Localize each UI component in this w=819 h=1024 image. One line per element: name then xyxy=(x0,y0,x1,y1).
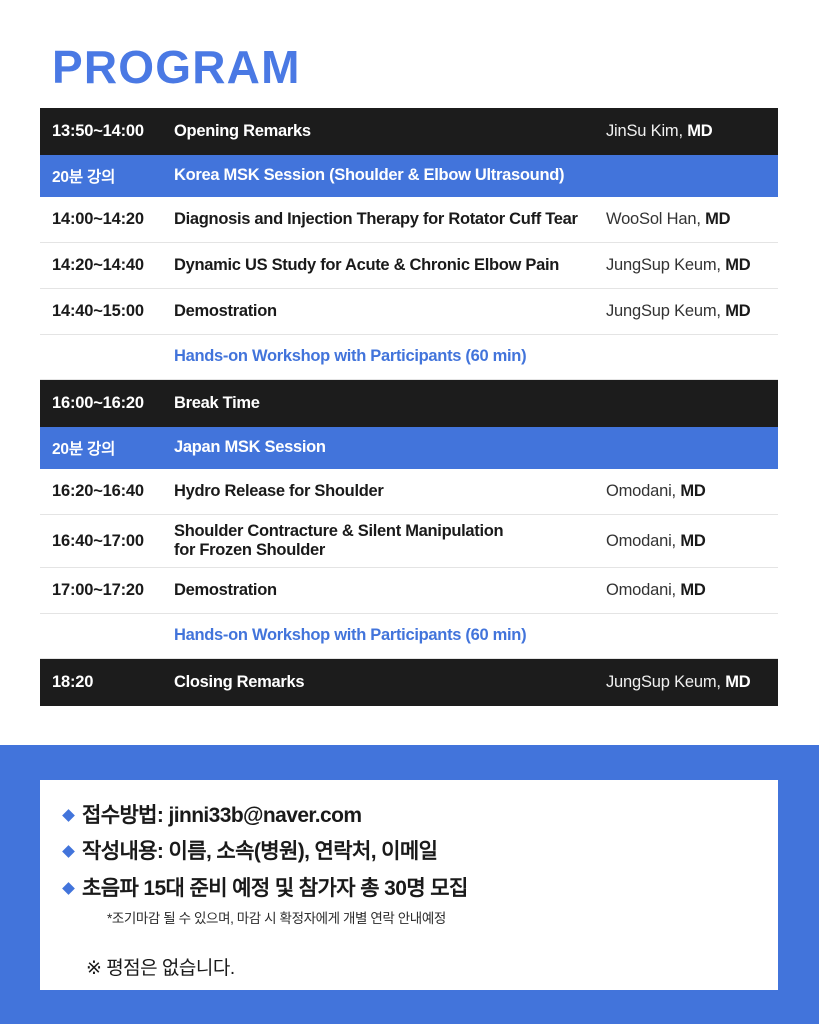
program-row: 14:00~14:20Diagnosis and Injection Thera… xyxy=(40,197,778,243)
program-row-time: 13:50~14:00 xyxy=(40,122,174,141)
program-row-time: 17:00~17:20 xyxy=(40,581,174,600)
speaker-degree: MD xyxy=(680,581,705,599)
program-row: 13:50~14:00Opening RemarksJinSu Kim, MD xyxy=(40,108,778,155)
program-row-speaker: JungSup Keum, MD xyxy=(606,256,778,275)
program-row-time: 18:20 xyxy=(40,673,174,692)
registration-bullet-text: 접수방법: jinni33b@naver.com xyxy=(82,802,361,829)
program-row-speaker: Omodani, MD xyxy=(606,581,778,600)
speaker-degree: MD xyxy=(705,210,730,228)
program-row: 20분 강의Japan MSK Session xyxy=(40,427,778,469)
speaker-degree: MD xyxy=(725,302,750,320)
program-row-topic: Hands-on Workshop with Participants (60 … xyxy=(174,626,606,645)
program-row-topic: Break Time xyxy=(174,394,606,413)
speaker-degree: MD xyxy=(725,673,750,691)
program-row-speaker: WooSol Han, MD xyxy=(606,210,778,229)
program-row-speaker: JinSu Kim, MD xyxy=(606,122,778,141)
program-row-time: 16:20~16:40 xyxy=(40,482,174,501)
program-row: 14:20~14:40Dynamic US Study for Acute & … xyxy=(40,243,778,289)
program-row-topic: Demostration xyxy=(174,302,606,321)
program-row-speaker: JungSup Keum, MD xyxy=(606,673,778,692)
speaker-degree: MD xyxy=(680,532,705,550)
diamond-bullet-icon xyxy=(62,809,75,822)
program-row-topic: Hands-on Workshop with Participants (60 … xyxy=(174,347,606,366)
program-row-topic: Shoulder Contracture & Silent Manipulati… xyxy=(174,522,606,561)
program-row: 20분 강의Korea MSK Session (Shoulder & Elbo… xyxy=(40,155,778,197)
program-row: 18:20Closing RemarksJungSup Keum, MD xyxy=(40,659,778,706)
program-row-topic: Japan MSK Session xyxy=(174,438,606,457)
registration-note: *조기마감 될 수 있으며, 마감 시 확정자에게 개별 연락 안내예정 xyxy=(107,907,760,927)
registration-bullet-text: 작성내용: 이름, 소속(병원), 연락처, 이메일 xyxy=(82,838,437,865)
registration-info-card: 접수방법: jinni33b@naver.com작성내용: 이름, 소속(병원)… xyxy=(40,780,778,990)
registration-bullet-item: 작성내용: 이름, 소속(병원), 연락처, 이메일 xyxy=(64,838,760,865)
program-row: 16:00~16:20Break Time xyxy=(40,380,778,427)
registration-final-note: ※ 평점은 없습니다. xyxy=(86,953,760,980)
program-row-time: 14:00~14:20 xyxy=(40,210,174,229)
registration-bullet-item: 초음파 15대 준비 예정 및 참가자 총 30명 모집 xyxy=(64,875,760,902)
program-row-speaker: JungSup Keum, MD xyxy=(606,302,778,321)
program-poster: PROGRAM 13:50~14:00Opening RemarksJinSu … xyxy=(0,0,819,1024)
program-row: 14:40~15:00DemostrationJungSup Keum, MD xyxy=(40,289,778,335)
program-row-topic: Closing Remarks xyxy=(174,673,606,692)
program-row: 17:00~17:20DemostrationOmodani, MD xyxy=(40,568,778,614)
program-row-topic: Demostration xyxy=(174,581,606,600)
speaker-degree: MD xyxy=(687,122,712,140)
speaker-degree: MD xyxy=(725,256,750,274)
registration-bullet-item: 접수방법: jinni33b@naver.com xyxy=(64,802,760,829)
program-row-topic: Dynamic US Study for Acute & Chronic Elb… xyxy=(174,256,606,275)
diamond-bullet-icon xyxy=(62,845,75,858)
registration-bullet-list: 접수방법: jinni33b@naver.com작성내용: 이름, 소속(병원)… xyxy=(64,802,760,980)
speaker-degree: MD xyxy=(680,482,705,500)
program-row-time: 20분 강의 xyxy=(40,165,174,187)
program-row: 16:20~16:40Hydro Release for ShoulderOmo… xyxy=(40,469,778,515)
program-row-time: 14:40~15:00 xyxy=(40,302,174,321)
program-row-speaker: Omodani, MD xyxy=(606,482,778,501)
program-row-topic: Korea MSK Session (Shoulder & Elbow Ultr… xyxy=(174,166,606,185)
program-row-time: 14:20~14:40 xyxy=(40,256,174,275)
program-schedule-table: 13:50~14:00Opening RemarksJinSu Kim, MD2… xyxy=(40,108,778,706)
program-row: Hands-on Workshop with Participants (60 … xyxy=(40,614,778,659)
page-title: PROGRAM xyxy=(52,44,301,90)
program-row: Hands-on Workshop with Participants (60 … xyxy=(40,335,778,380)
registration-footer-band: 접수방법: jinni33b@naver.com작성내용: 이름, 소속(병원)… xyxy=(0,745,819,1024)
program-row-topic: Opening Remarks xyxy=(174,122,606,141)
program-row-time: 16:40~17:00 xyxy=(40,532,174,551)
program-row-time: 20분 강의 xyxy=(40,437,174,459)
program-row-speaker: Omodani, MD xyxy=(606,532,778,551)
program-row: 16:40~17:00Shoulder Contracture & Silent… xyxy=(40,515,778,568)
program-row-time: 16:00~16:20 xyxy=(40,394,174,413)
program-row-topic: Diagnosis and Injection Therapy for Rota… xyxy=(174,210,606,229)
registration-bullet-text: 초음파 15대 준비 예정 및 참가자 총 30명 모집 xyxy=(82,875,468,902)
program-row-topic: Hydro Release for Shoulder xyxy=(174,482,606,501)
diamond-bullet-icon xyxy=(62,882,75,895)
